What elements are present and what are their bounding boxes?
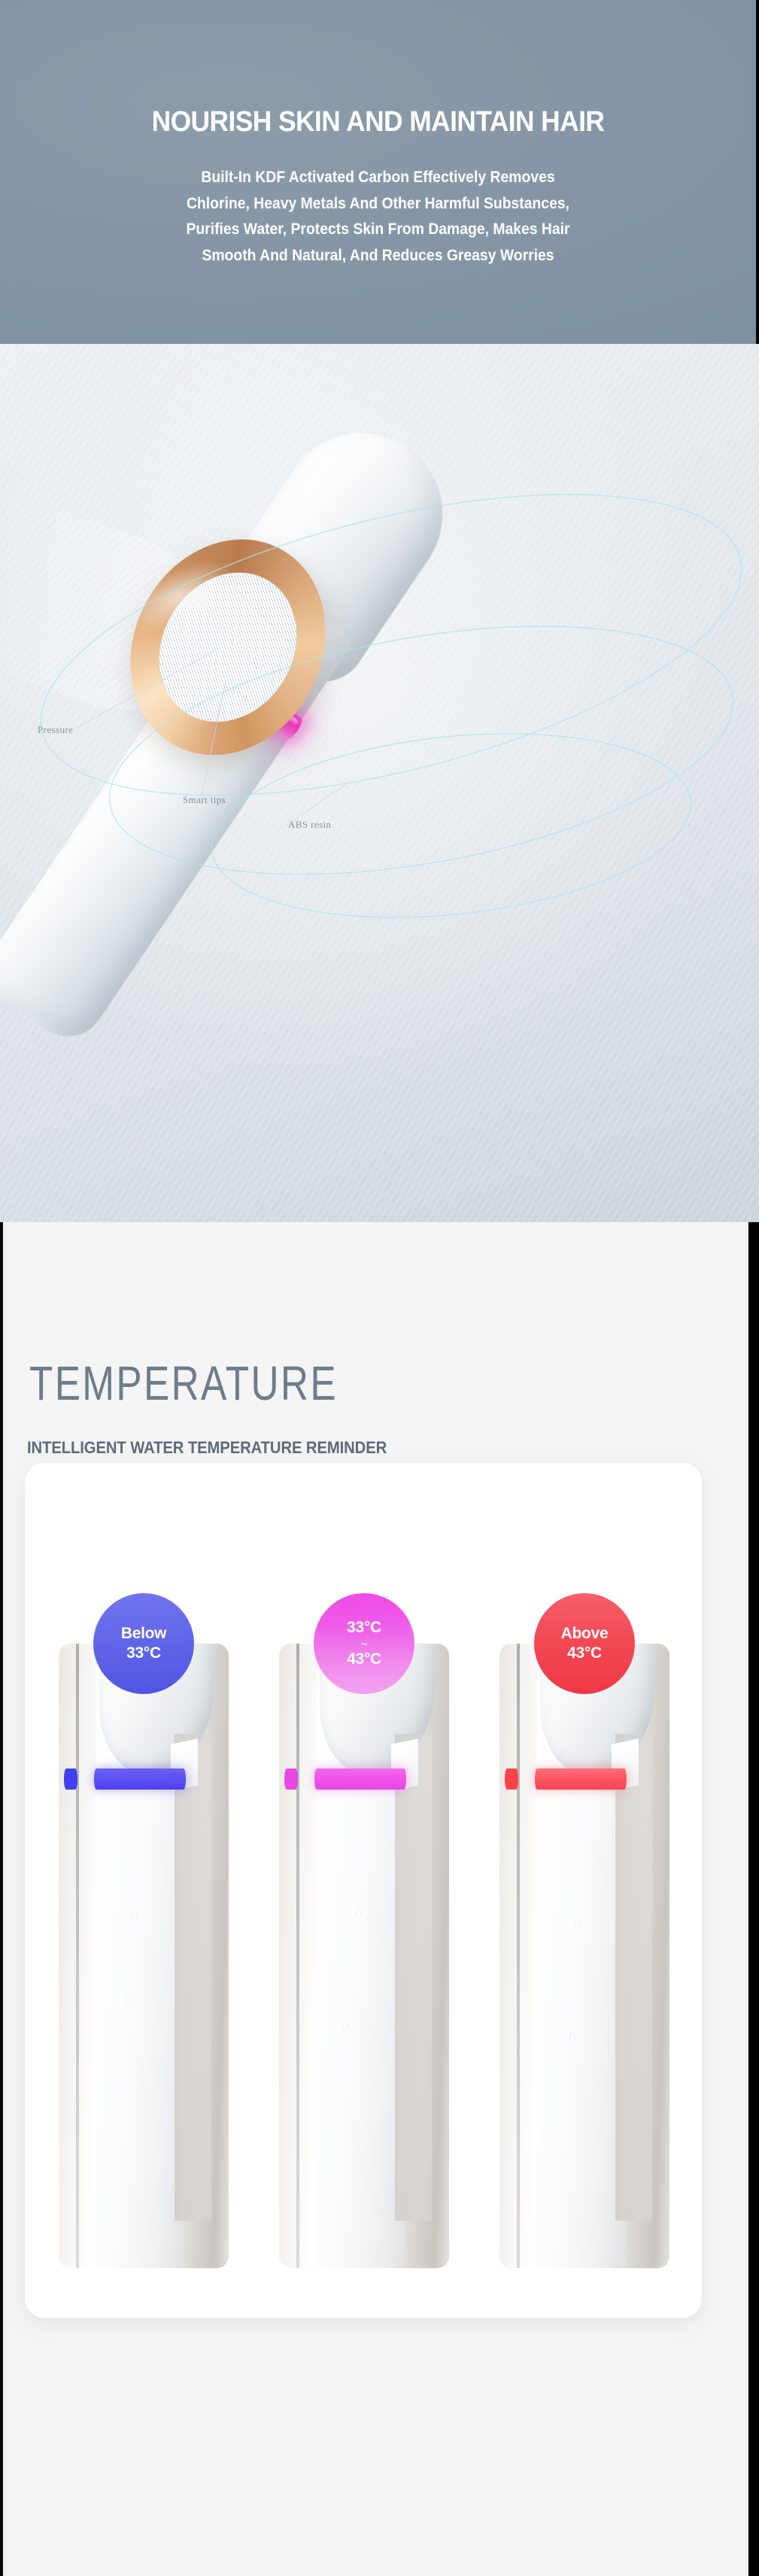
badge-warm-line-1: 33°C [347,1618,381,1638]
callout-label-pressure: Pressure [38,724,73,736]
water-droplet [126,1997,129,2003]
page-edge-top-right [756,0,759,344]
product-shot-cold-shadow [175,1734,212,2221]
page-edge-right [748,1222,759,2576]
led-band-cold-segment-left [64,1769,77,1790]
temperature-badge-warm: 33°C ~ 43°C [314,1593,414,1694]
temperature-card: Below 33°C [25,1463,702,2318]
led-band-warm-segment-left [284,1769,298,1790]
led-band-warm [279,1769,449,1790]
water-droplet [344,2024,347,2029]
product-shot-warm-shadow [395,1734,433,2221]
temperature-level-warm: 33°C ~ 43°C [264,1593,464,1694]
orbit-rings-graphic [0,344,759,1222]
badge-hot-line-3: 43°C [567,1644,602,1663]
temperature-eyebrow: TEMPERATURE [29,1360,338,1408]
badge-warm-line-2: ~ [361,1638,367,1649]
badge-hot-line-1: Above [561,1624,609,1644]
product-detail-page: NOURISH SKIN AND MAINTAIN HAIR Built-In … [0,0,759,2576]
hero-subtitle-line-4: Smooth And Natural, And Reduces Greasy W… [78,242,678,269]
led-band-hot-segment-main [535,1769,627,1790]
water-droplet [357,1911,360,1916]
callout-label-smart-tips: Smart tips [183,794,226,806]
temperature-section: TEMPERATURE INTELLIGENT WATER TEMPERATUR… [3,1222,748,2576]
badge-cold-line-3: 33°C [126,1644,161,1663]
led-band-hot-segment-left [505,1769,518,1790]
badge-warm-line-3: 43°C [347,1650,381,1669]
led-band-hot [499,1769,669,1790]
water-droplet [571,2035,574,2040]
hero-subtitle-line-1: Built-In KDF Activated Carbon Effectivel… [78,164,678,190]
temperature-badge-cold: Below 33°C [93,1593,194,1694]
temperature-badge-hot: Above 43°C [534,1593,635,1694]
hero-subtitle: Built-In KDF Activated Carbon Effectivel… [78,164,678,269]
product-shot-hot [499,1644,669,2268]
temperature-heading: INTELLIGENT WATER TEMPERATURE REMINDER [27,1438,387,1458]
product-shot-hot-shadow [615,1734,653,2221]
hero-subtitle-line-3: Purifies Water, Protects Skin From Damag… [78,216,678,242]
water-droplet [576,1922,579,1927]
led-band-cold [59,1769,229,1790]
temperature-level-cold: Below 33°C [44,1593,244,1694]
callout-label-abs-resin: ABS resin [288,819,331,831]
temperature-level-row: Below 33°C [44,1593,685,1694]
led-band-cold-segment-main [94,1769,186,1790]
product-shot-warm [279,1644,449,2268]
page-edge-left [0,1222,3,2576]
temperature-level-hot: Above 43°C [484,1593,685,1694]
hero-text-block: NOURISH SKIN AND MAINTAIN HAIR Built-In … [0,107,756,269]
led-band-warm-segment-main [314,1769,406,1790]
water-droplet [133,1915,136,1920]
hero-title: NOURISH SKIN AND MAINTAIN HAIR [68,107,688,138]
hero-banner: NOURISH SKIN AND MAINTAIN HAIR Built-In … [0,0,756,344]
product-shot-cold [59,1644,229,2268]
product-photo-section: Pressure Smart tips ABS resin [0,344,759,1222]
hero-subtitle-line-2: Chlorine, Heavy Metals And Other Harmful… [78,190,678,217]
badge-cold-line-1: Below [121,1624,166,1644]
